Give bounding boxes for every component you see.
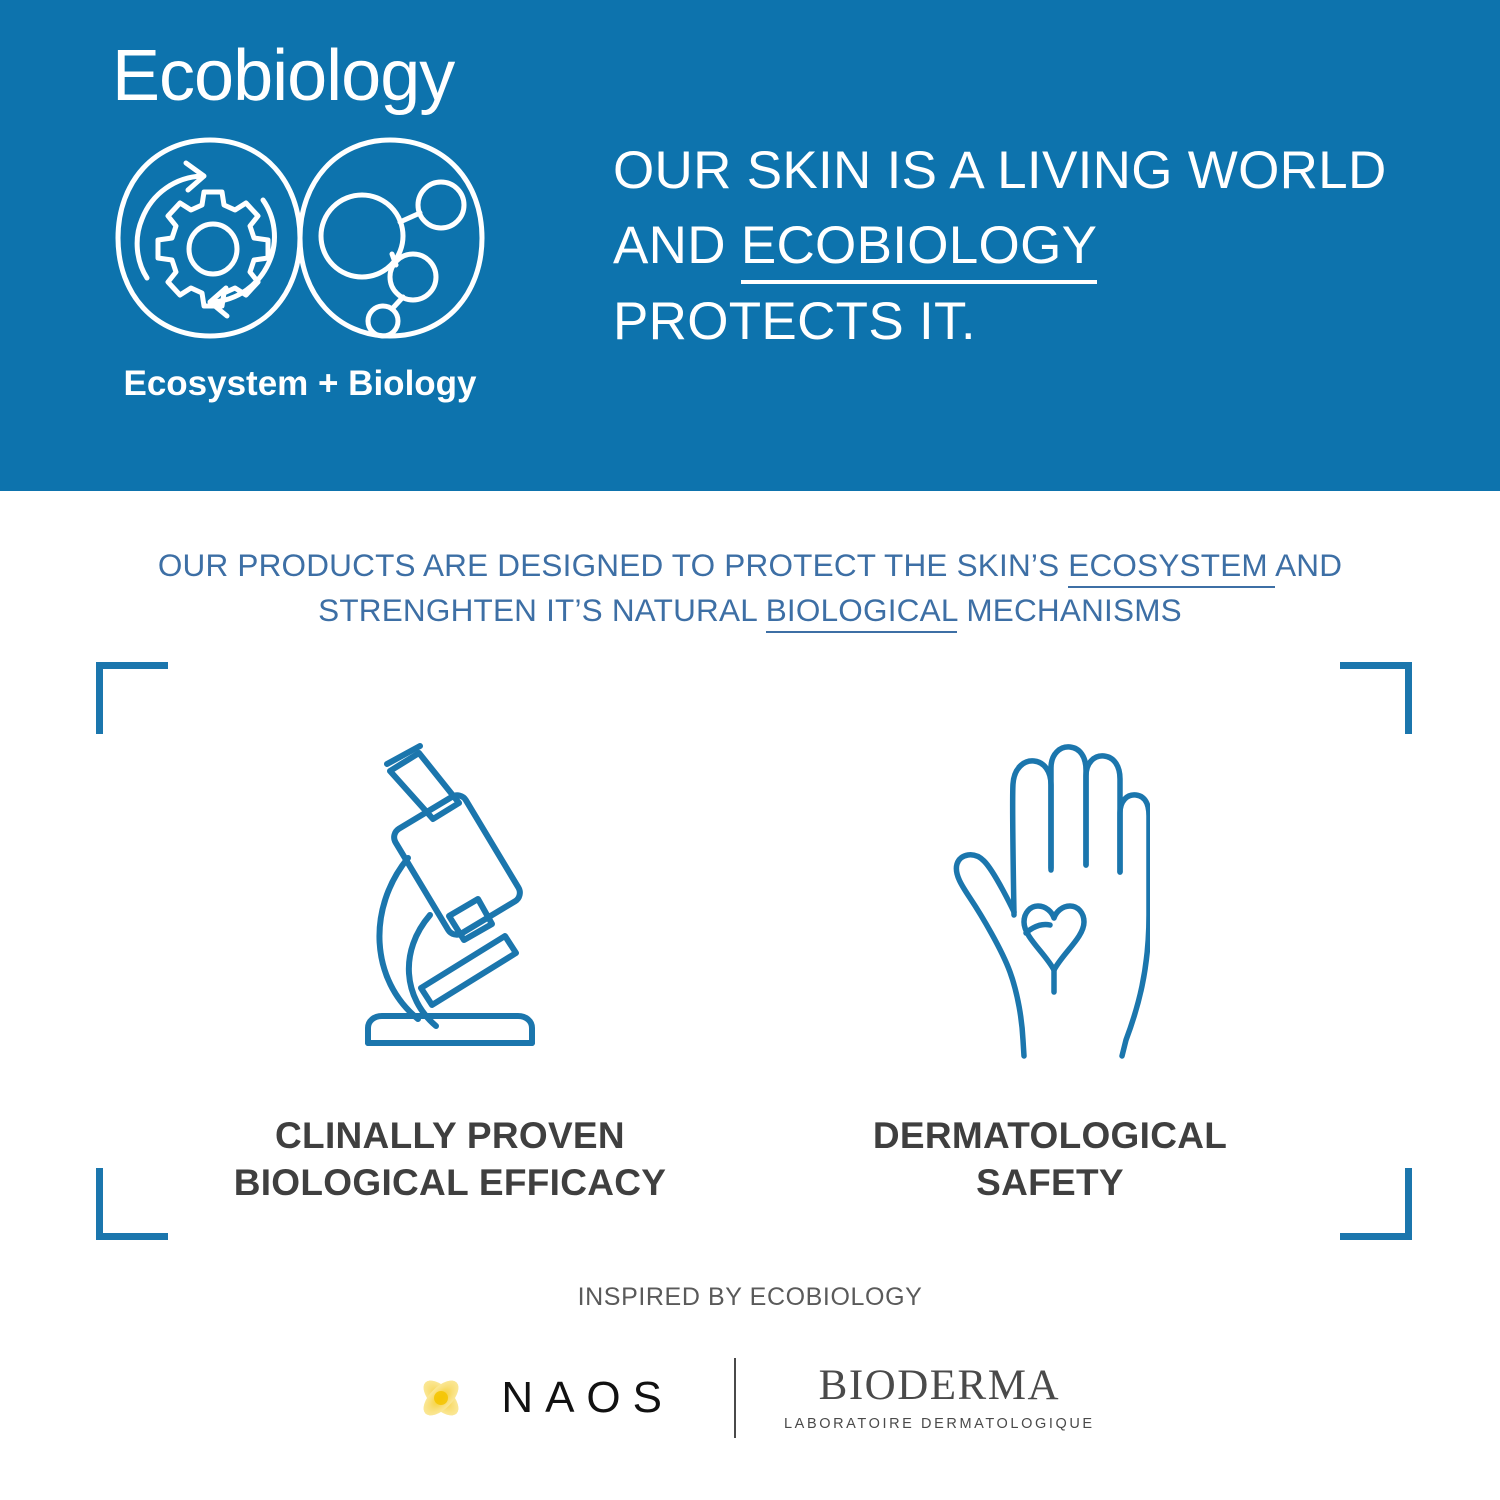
- headline-ecobiology-underlined: ECOBIOLOGY: [741, 216, 1097, 284]
- bioderma-tagline: LABORATOIRE DERMATOLOGIQUE: [784, 1416, 1095, 1432]
- frame-corner-bar-vertical: [96, 662, 103, 734]
- feature-caption-line-2: SAFETY: [873, 1159, 1227, 1206]
- frame-corner-top-right: [1340, 662, 1412, 734]
- bioderma-logo: BIODERMA LABORATOIRE DERMATOLOGIQUE: [784, 1364, 1095, 1432]
- header-banner: Ecobiology: [0, 0, 1500, 491]
- footer-logos: NAOS BIODERMA LABORATOIRE DERMATOLOGIQUE: [0, 1358, 1500, 1438]
- subtitle-line-2-prefix: STRENGHTEN IT’S NATURAL: [318, 592, 766, 628]
- subtitle-block: OUR PRODUCTS ARE DESIGNED TO PROTECT THE…: [0, 543, 1500, 632]
- feature-caption-line-1: DERMATOLOGICAL: [873, 1112, 1227, 1159]
- feature-caption-line-1: CLINALLY PROVEN: [234, 1112, 667, 1159]
- logo-divider-icon: [734, 1358, 736, 1438]
- frame-corner-bar-horizontal: [1340, 662, 1412, 669]
- headline-line-2: AND ECOBIOLOGY: [613, 208, 1473, 283]
- frame-corner-bar-vertical: [1405, 662, 1412, 734]
- subtitle-line-1: OUR PRODUCTS ARE DESIGNED TO PROTECT THE…: [0, 543, 1500, 588]
- headline: OUR SKIN IS A LIVING WORLD AND ECOBIOLOG…: [613, 133, 1473, 359]
- naos-flower-icon: [405, 1362, 477, 1434]
- inspired-by-label: INSPIRED BY ECOBIOLOGY: [0, 1283, 1500, 1312]
- subtitle-ecosystem-underlined: ECOSYSTEM: [1068, 547, 1275, 588]
- subtitle-line-2: STRENGHTEN IT’S NATURAL BIOLOGICAL MECHA…: [0, 588, 1500, 633]
- subtitle-line-1-prefix: OUR PRODUCTS ARE DESIGNED TO PROTECT THE…: [158, 547, 1068, 583]
- subtitle-biological-underlined: BIOLOGICAL: [766, 592, 958, 633]
- naos-wordmark: NAOS: [497, 1373, 674, 1423]
- feature-icon-box: [950, 720, 1150, 1070]
- frame-corner-bar-horizontal: [96, 1233, 168, 1240]
- naos-logo: NAOS: [405, 1362, 674, 1434]
- frame-corner-bottom-right: [1340, 1168, 1412, 1240]
- feature-dermatological-safety: DERMATOLOGICAL SAFETY: [750, 720, 1350, 1207]
- headline-line-3: PROTECTS IT.: [613, 284, 1473, 359]
- feature-caption: DERMATOLOGICAL SAFETY: [873, 1112, 1227, 1207]
- ecobiology-infinity-gear-molecule-icon: [100, 130, 500, 346]
- headline-line-1: OUR SKIN IS A LIVING WORLD: [613, 133, 1473, 208]
- brand-title: Ecobiology: [90, 40, 510, 112]
- feature-clinically-proven: CLINALLY PROVEN BIOLOGICAL EFFICACY: [150, 720, 750, 1207]
- brand-block: Ecobiology: [90, 40, 510, 404]
- frame-corner-bar-horizontal: [96, 662, 168, 669]
- hand-with-heart-icon: [950, 740, 1150, 1070]
- feature-caption-line-2: BIOLOGICAL EFFICACY: [234, 1159, 667, 1206]
- headline-line-2-prefix: AND: [613, 216, 741, 275]
- frame-corner-bar-vertical: [1405, 1168, 1412, 1240]
- bioderma-wordmark: BIODERMA: [819, 1364, 1060, 1407]
- features-row: CLINALLY PROVEN BIOLOGICAL EFFICACY: [150, 720, 1350, 1207]
- subtitle-line-2-suffix: MECHANISMS: [957, 592, 1181, 628]
- subtitle-line-1-suffix: AND: [1275, 547, 1342, 583]
- feature-caption: CLINALLY PROVEN BIOLOGICAL EFFICACY: [234, 1112, 667, 1207]
- microscope-icon: [335, 740, 565, 1070]
- frame-corner-bar-horizontal: [1340, 1233, 1412, 1240]
- ecobiology-logo: [90, 126, 510, 350]
- feature-icon-box: [335, 720, 565, 1070]
- frame-corner-bar-vertical: [96, 1168, 103, 1240]
- brand-subtitle: Ecosystem + Biology: [90, 364, 510, 404]
